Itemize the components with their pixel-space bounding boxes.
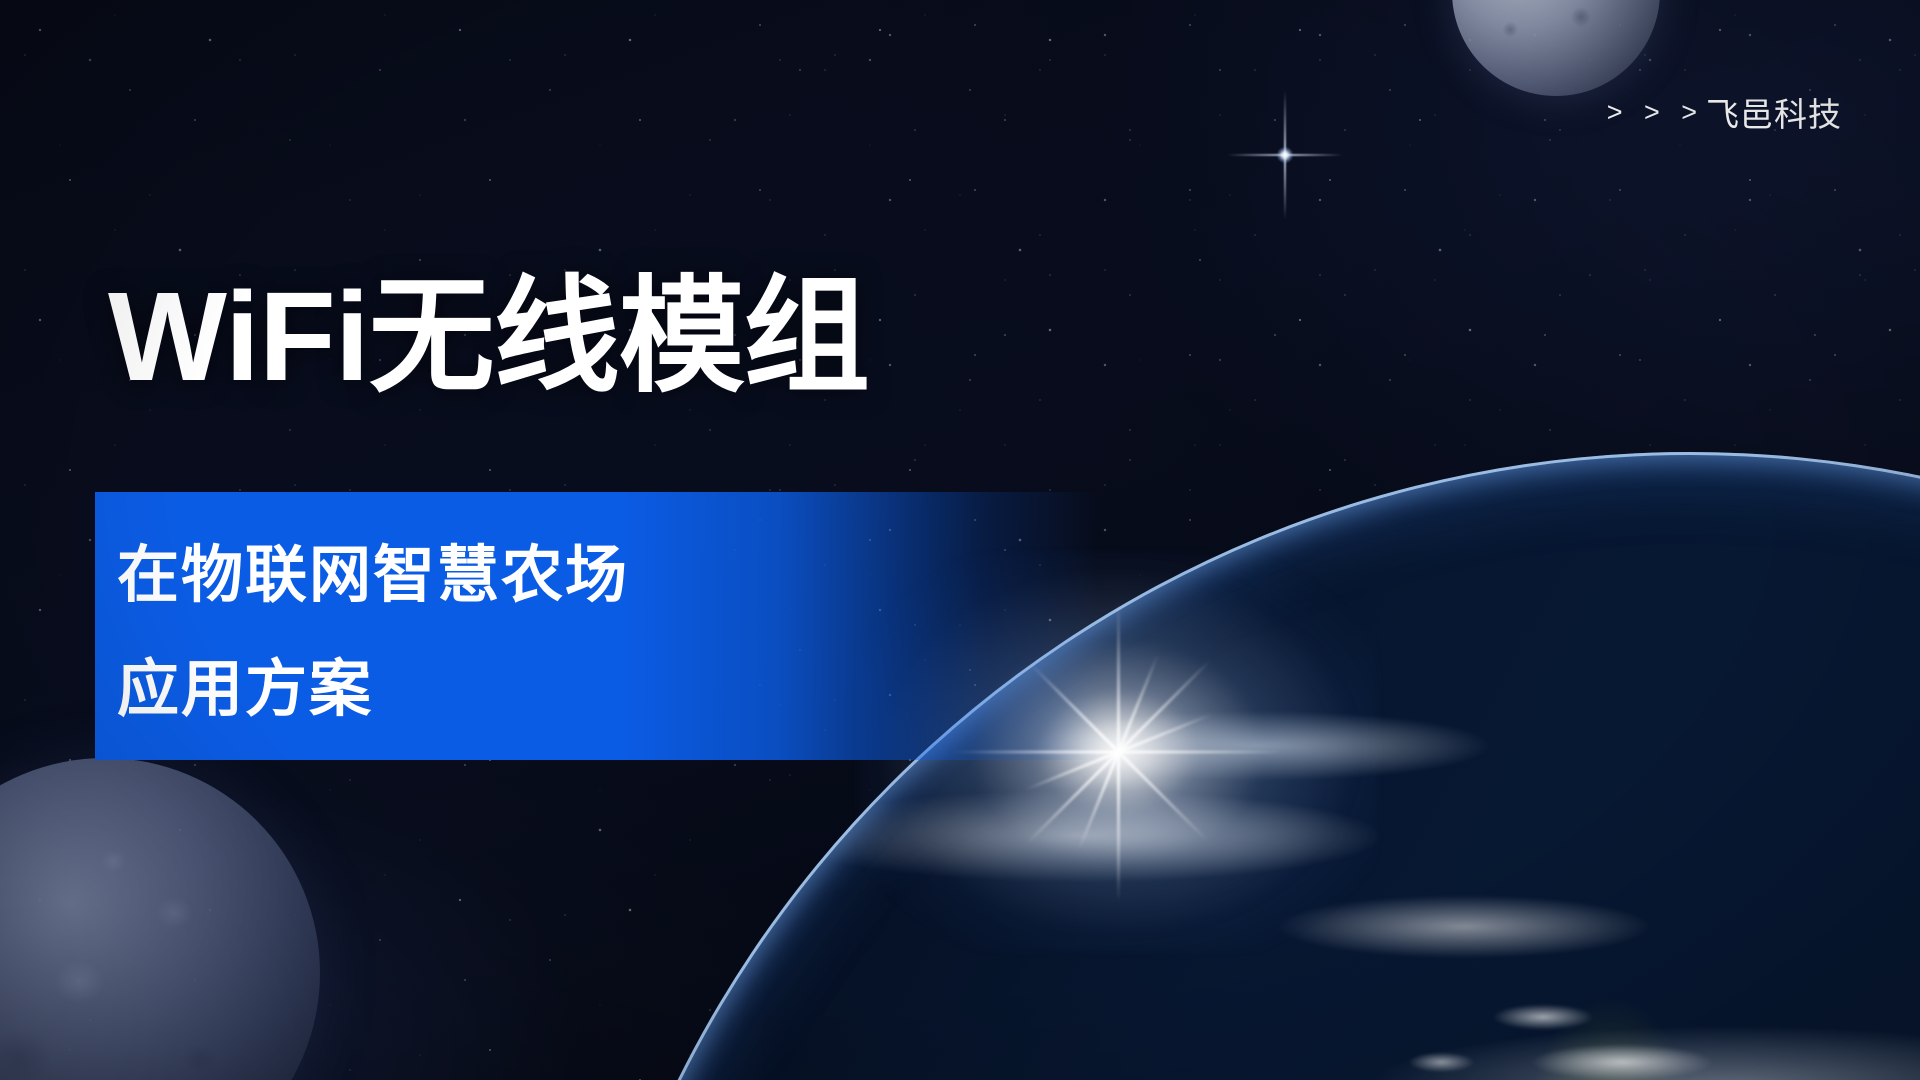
- subtitle-line-1: 在物联网智慧农场: [117, 524, 629, 614]
- subtitle-line-2: 应用方案: [117, 638, 373, 728]
- page-title: WiFi无线模组: [108, 274, 869, 400]
- brand-mark: > > > 飞邑科技: [1607, 88, 1842, 136]
- chevron-right-icon: > > >: [1607, 97, 1704, 128]
- subtitle-band: 在物联网智慧农场 应用方案: [95, 492, 1100, 760]
- brand-name: 飞邑科技: [1706, 88, 1842, 136]
- slide-canvas: > > > 飞邑科技 WiFi无线模组 在物联网智慧农场 应用方案: [0, 0, 1920, 1080]
